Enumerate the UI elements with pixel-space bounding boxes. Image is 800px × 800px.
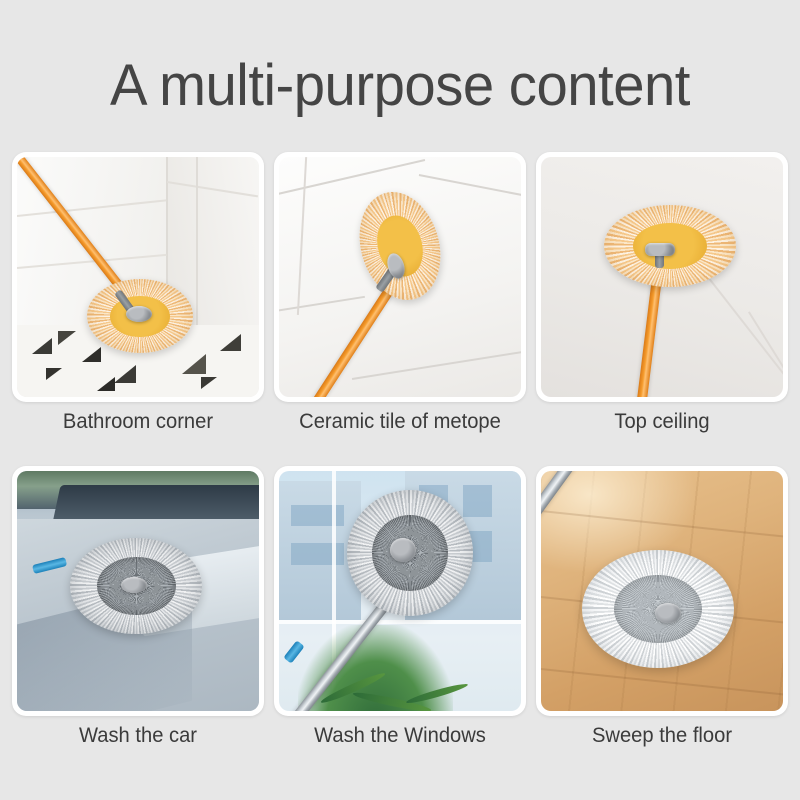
- tile-caption: Sweep the floor: [541, 724, 783, 748]
- grout-line: [279, 159, 425, 196]
- grout-line: [196, 157, 198, 335]
- photo-card[interactable]: [274, 152, 526, 402]
- grout-line: [351, 348, 521, 379]
- floor-triangle: [182, 354, 206, 374]
- floor-triangle: [97, 377, 115, 391]
- tile-top-ceiling[interactable]: Top ceiling: [536, 152, 788, 462]
- grout-line: [297, 157, 307, 315]
- tile-sweep-the-floor[interactable]: Sweep the floor: [536, 466, 788, 776]
- floor-triangle: [58, 331, 76, 345]
- tile-caption: Wash the Windows: [279, 724, 521, 748]
- building-window: [291, 505, 344, 527]
- floor-triangle: [46, 368, 62, 380]
- page-title: A multi-purpose content: [12, 52, 788, 119]
- plank-seam: [541, 666, 783, 700]
- tile-wash-the-car[interactable]: Wash the car: [12, 466, 264, 776]
- photo-wash-the-windows: [279, 471, 521, 711]
- mop-hub: [645, 243, 675, 256]
- tile-caption: Ceramic tile of metope: [279, 410, 521, 434]
- photo-ceramic-tile: [279, 157, 521, 397]
- photo-card[interactable]: [12, 152, 264, 402]
- floor-triangle: [82, 347, 101, 362]
- tile-caption: Bathroom corner: [17, 410, 259, 434]
- photo-card[interactable]: [12, 466, 264, 716]
- grout-line: [279, 295, 365, 312]
- building-window: [291, 543, 344, 565]
- window-mullion: [279, 620, 521, 624]
- photo-card[interactable]: [274, 466, 526, 716]
- mop-hub: [655, 603, 681, 623]
- photo-sweep-the-floor: [541, 471, 783, 711]
- tile-caption: Wash the car: [17, 724, 259, 748]
- photo-top-ceiling: [541, 157, 783, 397]
- photo-wash-the-car: [17, 471, 259, 711]
- mop-hub: [121, 577, 147, 593]
- tile-grid: Bathroom corner Ceramic tile of metope: [12, 152, 788, 776]
- ceiling-line: [700, 268, 783, 383]
- photo-card[interactable]: [536, 152, 788, 402]
- mop-head: [348, 182, 453, 309]
- floor-triangle: [220, 334, 241, 351]
- tile-bathroom-corner[interactable]: Bathroom corner: [12, 152, 264, 462]
- floor-triangle: [201, 377, 217, 389]
- photo-bathroom-corner: [17, 157, 259, 397]
- grout-line: [419, 174, 521, 199]
- infographic-page: A multi-purpose content: [0, 0, 800, 800]
- mop-hub: [126, 306, 152, 322]
- tile-wash-the-windows[interactable]: Wash the Windows: [274, 466, 526, 776]
- floor-triangle: [32, 338, 52, 354]
- tile-ceramic-tile-of-metope[interactable]: Ceramic tile of metope: [274, 152, 526, 462]
- building-window: [463, 485, 492, 516]
- floor-triangle: [114, 365, 136, 383]
- tile-caption: Top ceiling: [541, 410, 783, 434]
- photo-card[interactable]: [536, 466, 788, 716]
